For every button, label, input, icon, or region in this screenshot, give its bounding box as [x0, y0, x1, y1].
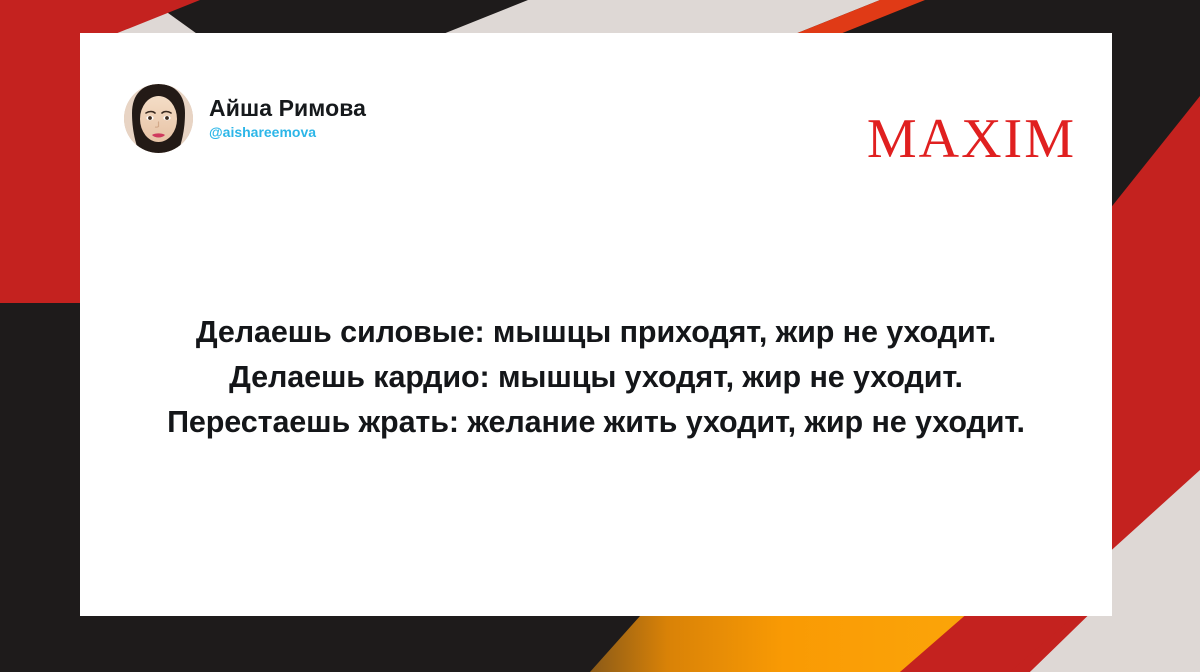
card-header: Айша Римова @aishareemova MAXIM [80, 33, 1112, 183]
avatar [124, 84, 193, 153]
maxim-logo: MAXIM [867, 111, 1076, 167]
quote-line-1: Делаешь силовые: мышцы приходят, жир не … [92, 310, 1100, 355]
author-text: Айша Римова @aishareemova [209, 96, 366, 141]
quote-card: Айша Римова @aishareemova MAXIM Делаешь … [80, 33, 1112, 616]
avatar-image [124, 84, 193, 153]
quote-line-3: Перестаешь жрать: желание жить уходит, ж… [92, 400, 1100, 445]
author-handle[interactable]: @aishareemova [209, 125, 366, 140]
meme-canvas: Айша Римова @aishareemova MAXIM Делаешь … [0, 0, 1200, 672]
author-block[interactable]: Айша Римова @aishareemova [124, 84, 366, 153]
quote-text: Делаешь силовые: мышцы приходят, жир не … [80, 310, 1112, 444]
author-name: Айша Римова [209, 96, 366, 121]
quote-line-2: Делаешь кардио: мышцы уходят, жир не ухо… [92, 355, 1100, 400]
